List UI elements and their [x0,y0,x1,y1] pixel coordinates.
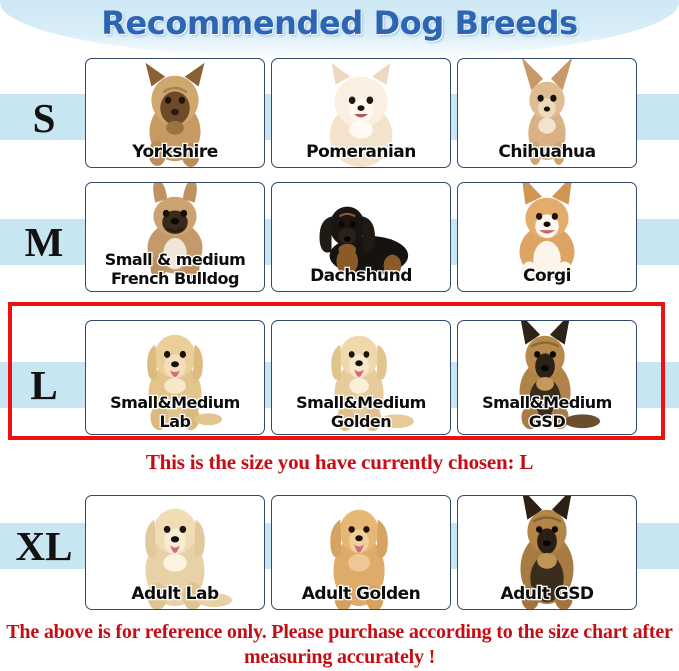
breed-card-label: Dachshund [272,267,450,286]
breed-card-adult-gsd[interactable]: Adult GSD [457,495,637,610]
purchase-disclaimer-notice: The above is for reference only. Please … [0,620,679,670]
breed-card-label: Adult GSD [458,585,636,604]
breed-card-label: Small&Medium Golden [272,393,450,431]
breed-card-label: Small&Medium Lab [86,393,264,431]
breed-card-label: Small&Medium GSD [458,393,636,431]
breed-card-corgi[interactable]: Corgi [457,182,637,292]
breed-card-chihuahua[interactable]: Chihuahua [457,58,637,168]
breed-card-yorkshire[interactable]: Yorkshire [85,58,265,168]
selected-size-notice: This is the size you have currently chos… [0,450,679,475]
breed-card-small-medium-gsd[interactable]: Small&Medium GSD [457,320,637,435]
recommended-dog-breeds-chart: Recommended Dog Breeds S [0,0,679,671]
size-label-l: L [12,365,76,406]
breed-card-label: Adult Golden [272,585,450,604]
breed-card-label: Corgi [458,267,636,286]
breed-card-label: Adult Lab [86,585,264,604]
breed-card-french-bulldog[interactable]: Small & medium French Bulldog [85,182,265,292]
size-label-s: S [8,98,80,139]
breed-card-label: Small & medium French Bulldog [86,250,264,288]
breed-card-adult-golden[interactable]: Adult Golden [271,495,451,610]
breed-card-dachshund[interactable]: Dachshund [271,182,451,292]
breed-card-small-medium-lab[interactable]: Small&Medium Lab [85,320,265,435]
breed-card-label: Yorkshire [86,143,264,162]
breed-card-small-medium-golden[interactable]: Small&Medium Golden [271,320,451,435]
page-title: Recommended Dog Breeds [0,4,679,42]
breed-card-pomeranian[interactable]: Pomeranian [271,58,451,168]
size-label-xl: XL [4,526,84,567]
size-label-m: M [8,222,80,263]
breed-card-label: Chihuahua [458,143,636,162]
breed-card-adult-lab[interactable]: Adult Lab [85,495,265,610]
breed-card-label: Pomeranian [272,143,450,162]
